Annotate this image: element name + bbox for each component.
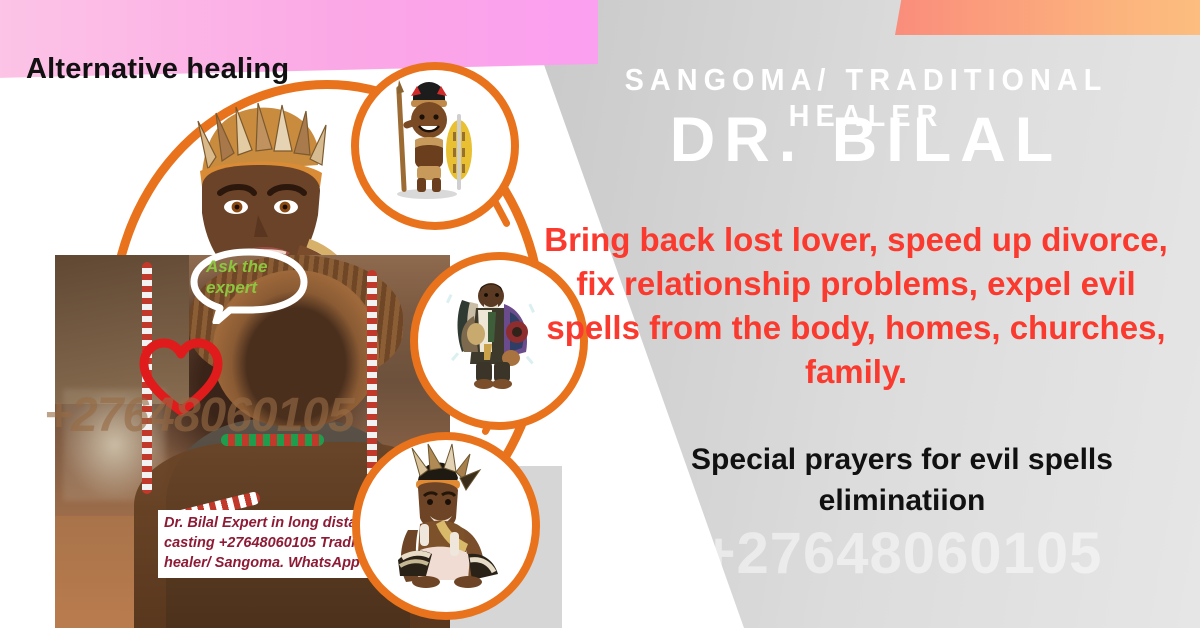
poster-canvas: Alternative healing [0, 0, 1200, 628]
ask-the-expert-label: Ask the expert [206, 256, 301, 299]
healer-name: DR. BILAL [556, 105, 1176, 176]
services-text: Bring back lost lover, speed up divorce,… [536, 218, 1176, 394]
page-title: Alternative healing [26, 53, 289, 86]
subheading-text: Special prayers for evil spells eliminat… [612, 440, 1192, 521]
crouching-sangoma-illustration [360, 440, 516, 596]
zulu-warrior-illustration [359, 70, 495, 206]
phone-watermark: +27648060105 [612, 520, 1192, 587]
circle-crouching-sangoma [352, 432, 540, 620]
circle-zulu-warrior [351, 62, 519, 230]
top-orange-band [895, 0, 1200, 35]
photo-phone-watermark: +27648060105 [44, 388, 354, 443]
